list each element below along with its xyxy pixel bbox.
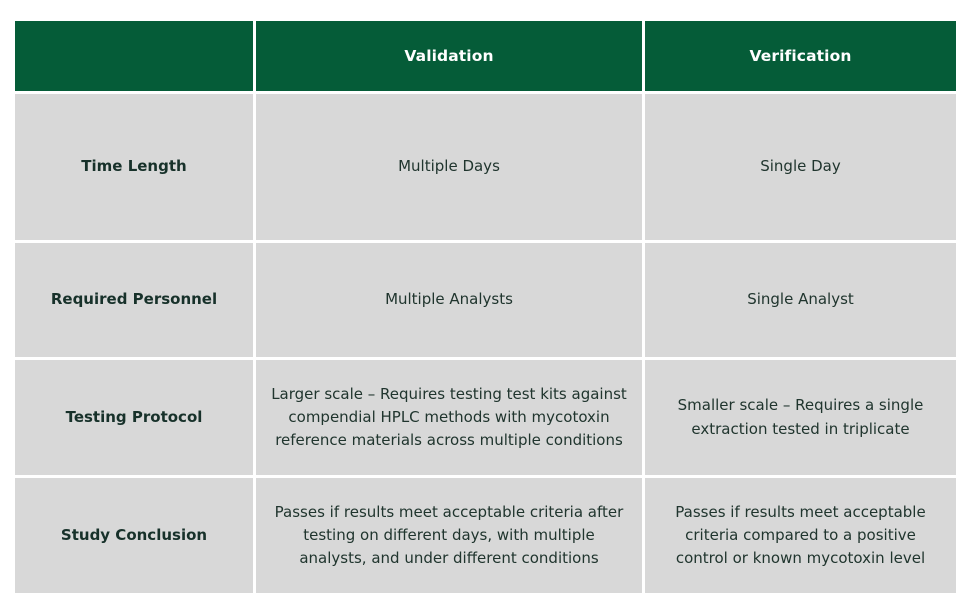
validation-verification-comparison-table: Validation Verification Time Length Mult… [12, 18, 959, 596]
cell-study-conclusion-validation: Passes if results meet acceptable criter… [256, 478, 642, 593]
cell-time-length-verification: Single Day [645, 94, 956, 240]
table-row: Testing Protocol Larger scale – Requires… [15, 360, 956, 475]
row-label-required-personnel: Required Personnel [15, 243, 253, 357]
cell-required-personnel-validation: Multiple Analysts [256, 243, 642, 357]
table-row: Time Length Multiple Days Single Day [15, 94, 956, 240]
page-root: Validation Verification Time Length Mult… [0, 0, 970, 546]
header-cell-verification: Verification [645, 21, 956, 91]
table-header-row: Validation Verification [15, 21, 956, 91]
table-row: Study Conclusion Passes if results meet … [15, 478, 956, 593]
cell-testing-protocol-validation: Larger scale – Requires testing test kit… [256, 360, 642, 475]
cell-time-length-validation: Multiple Days [256, 94, 642, 240]
row-label-time-length: Time Length [15, 94, 253, 240]
cell-testing-protocol-verification: Smaller scale – Requires a single extrac… [645, 360, 956, 475]
row-label-testing-protocol: Testing Protocol [15, 360, 253, 475]
cell-study-conclusion-verification: Passes if results meet acceptable criter… [645, 478, 956, 593]
table-row: Required Personnel Multiple Analysts Sin… [15, 243, 956, 357]
header-cell-corner [15, 21, 253, 91]
cell-required-personnel-verification: Single Analyst [645, 243, 956, 357]
row-label-study-conclusion: Study Conclusion [15, 478, 253, 593]
table-header: Validation Verification [15, 21, 956, 91]
header-cell-validation: Validation [256, 21, 642, 91]
table-body: Time Length Multiple Days Single Day Req… [15, 94, 956, 593]
